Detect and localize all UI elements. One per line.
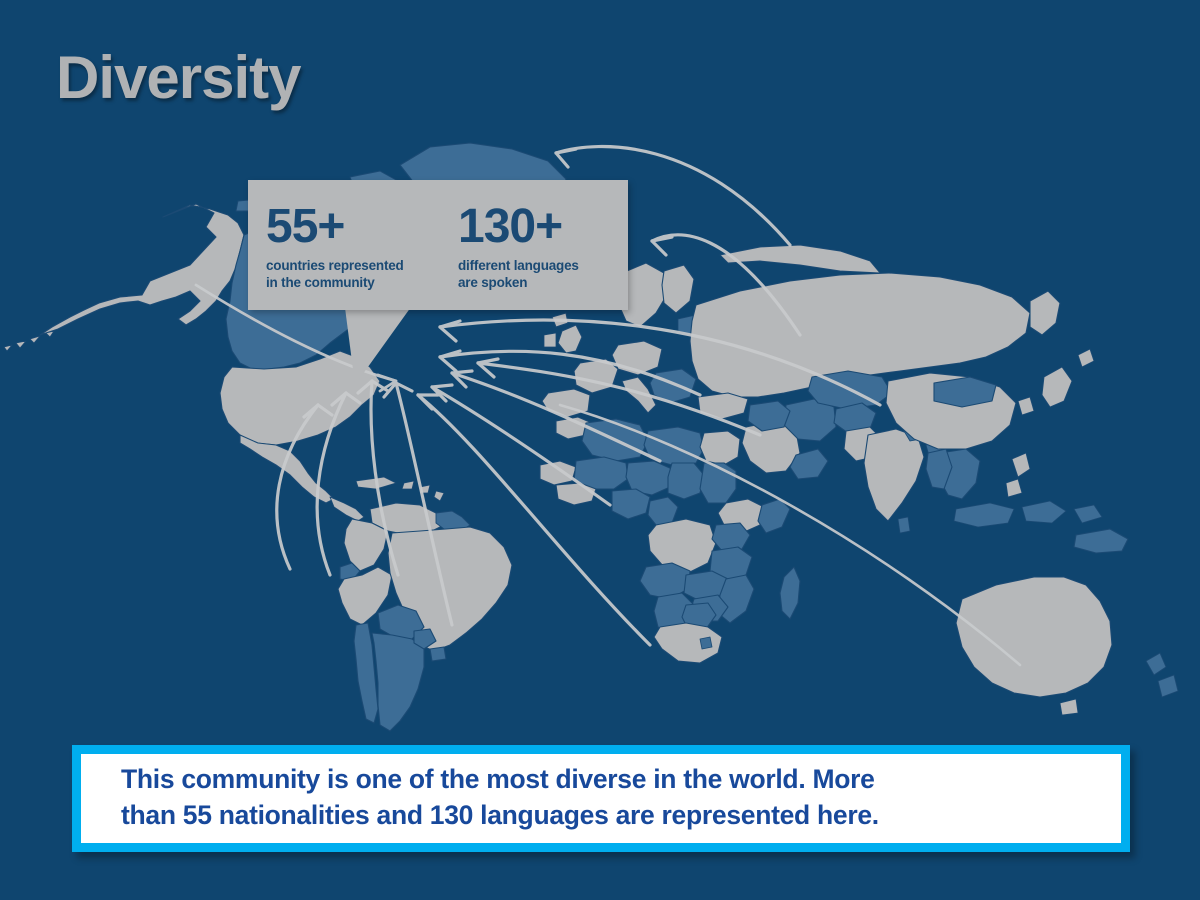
- country-lesotho: [700, 637, 712, 649]
- stat-countries-label-line1: countries represented: [266, 258, 404, 275]
- country-westafrica-1: [540, 461, 576, 485]
- caption-box: This community is one of the most divers…: [72, 745, 1130, 852]
- country-ireland: [544, 333, 556, 347]
- stat-languages-label: different languages are spoken: [458, 258, 579, 292]
- caption-line-2: than 55 nationalities and 130 languages …: [121, 798, 1099, 834]
- country-uruguay: [430, 647, 446, 661]
- country-chad: [668, 463, 704, 499]
- stat-countries-label: countries represented in the community: [266, 258, 404, 292]
- slide-canvas: Diversity 55+ countries represented in t…: [0, 0, 1200, 900]
- caption-inner: This community is one of the most divers…: [81, 754, 1121, 843]
- stat-languages: 130+ different languages are spoken: [458, 203, 579, 292]
- stat-countries-value: 55+: [266, 203, 404, 251]
- country-sudan: [700, 463, 736, 503]
- stat-countries: 55+ countries represented in the communi…: [266, 203, 404, 292]
- caption-line-1: This community is one of the most divers…: [121, 762, 1099, 798]
- stat-languages-label-line2: are spoken: [458, 275, 579, 292]
- page-title: Diversity: [56, 48, 300, 108]
- stat-languages-value: 130+: [458, 203, 579, 251]
- stat-languages-label-line1: different languages: [458, 258, 579, 275]
- stat-countries-label-line2: in the community: [266, 275, 404, 292]
- country-srilanka: [898, 517, 910, 533]
